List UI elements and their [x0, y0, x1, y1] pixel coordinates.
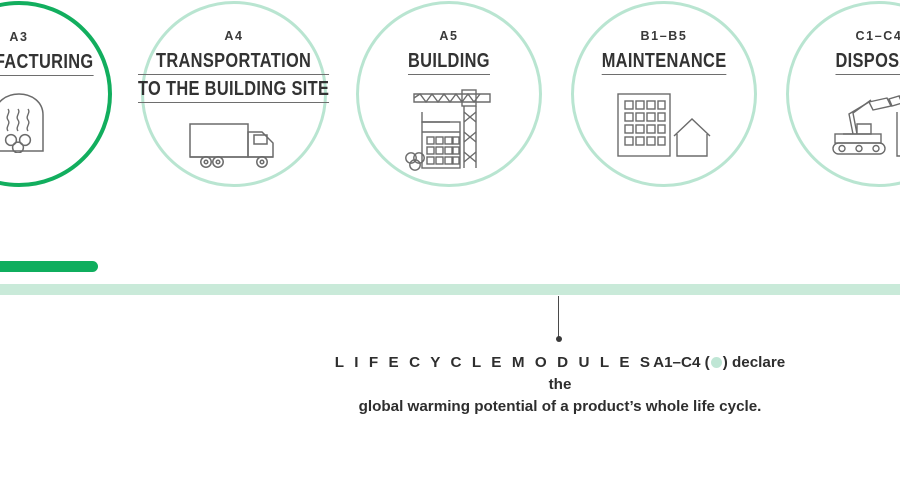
module-circle-a5[interactable]: A5 BUILDING	[356, 1, 542, 187]
completed-modules-bar	[0, 261, 98, 272]
infographic-canvas: A3 MANUFACTURING A4 TRANSPOR	[0, 0, 900, 500]
delivery-truck-icon	[188, 118, 280, 175]
module-code-a5: A5	[439, 30, 458, 43]
excavator-demolition-icon	[827, 92, 900, 163]
module-title-b1-b5-line1: MAINTENANCE	[602, 50, 727, 75]
module-title-a4: TRANSPORTATION TO THE BUILDING SITE	[138, 50, 329, 107]
construction-crane-icon	[402, 88, 496, 177]
factory-kiln-icon	[0, 89, 49, 158]
module-code-a4: A4	[224, 30, 243, 43]
caption-center-line2: global warming potential of a product’s …	[330, 396, 790, 418]
legend-dot-icon	[711, 357, 722, 368]
caption-center: L I F E C Y C L E M O D U L E SA1–C4 () …	[330, 352, 790, 418]
module-title-a3-line1: MANUFACTURING	[0, 51, 94, 76]
module-title-a5-line1: BUILDING	[408, 50, 490, 75]
module-circle-a3-content: A3 MANUFACTURING	[0, 5, 108, 183]
caption-center-line1: L I F E C Y C L E M O D U L E SA1–C4 () …	[330, 352, 790, 396]
caption-left: ial) value of nufacturing ate.	[0, 352, 116, 415]
module-title-c1-c4-line1: DISPOSAL	[836, 50, 900, 75]
caption-center-range: A1–C4 (	[653, 354, 710, 371]
module-title-b1-b5: MAINTENANCE	[602, 50, 727, 78]
caption-left-line2: nufacturing	[0, 373, 116, 394]
module-title-a5: BUILDING	[408, 50, 490, 78]
callout-line	[558, 296, 559, 338]
caption-left-line1: ial) value of	[0, 352, 116, 373]
module-circle-a5-content: A5 BUILDING	[359, 4, 539, 184]
module-title-c1-c4: DISPOSAL	[836, 50, 900, 78]
module-circle-c1-c4-content: C1–C4 DISPOSAL	[789, 4, 900, 184]
remaining-modules-bar	[0, 284, 900, 295]
module-code-c1-c4: C1–C4	[856, 30, 900, 43]
module-title-a4-line1: TRANSPORTATION	[138, 50, 329, 75]
callout-dot	[556, 336, 562, 342]
module-title-a4-line2: TO THE BUILDING SITE	[138, 78, 329, 103]
caption-left-line3: ate.	[0, 394, 116, 415]
module-circle-a4[interactable]: A4 TRANSPORTATION TO THE BUILDING SITE	[141, 1, 327, 187]
module-title-a3: MANUFACTURING	[0, 51, 94, 79]
module-code-b1-b5: B1–B5	[641, 30, 688, 43]
module-circle-b1-b5-content: B1–B5 MAINTENANCE	[574, 4, 754, 184]
module-circle-a4-content: A4 TRANSPORTATION TO THE BUILDING SITE	[144, 4, 324, 184]
module-circle-c1-c4[interactable]: C1–C4 DISPOSAL	[786, 1, 900, 187]
module-code-a3: A3	[9, 31, 28, 44]
building-and-house-icon	[616, 92, 712, 163]
module-circle-a3[interactable]: A3 MANUFACTURING	[0, 1, 112, 187]
caption-center-spaced-prefix: L I F E C Y C L E M O D U L E S	[335, 354, 653, 371]
module-circle-b1-b5[interactable]: B1–B5 MAINTENANCE	[571, 1, 757, 187]
